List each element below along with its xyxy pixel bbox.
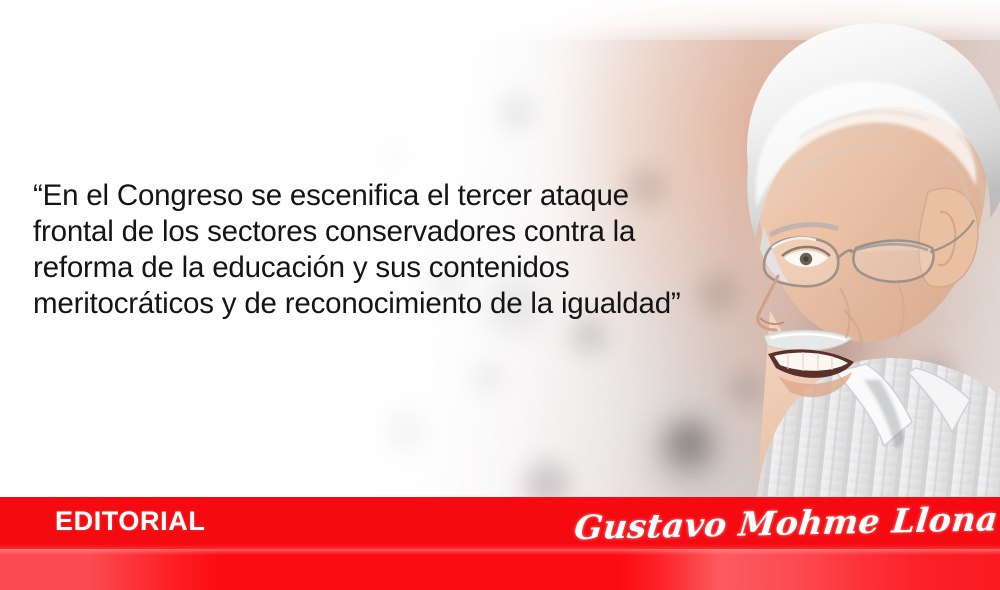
editorial-quote: “En el Congreso se escenifica el tercer … [33,178,733,322]
section-label-editorial: EDITORIAL [55,506,205,537]
editorial-red-bar-lower [0,549,1000,590]
editorial-banner: “En el Congreso se escenifica el tercer … [0,0,1000,590]
author-signature: Gustavo Mohme Llona [572,494,968,552]
